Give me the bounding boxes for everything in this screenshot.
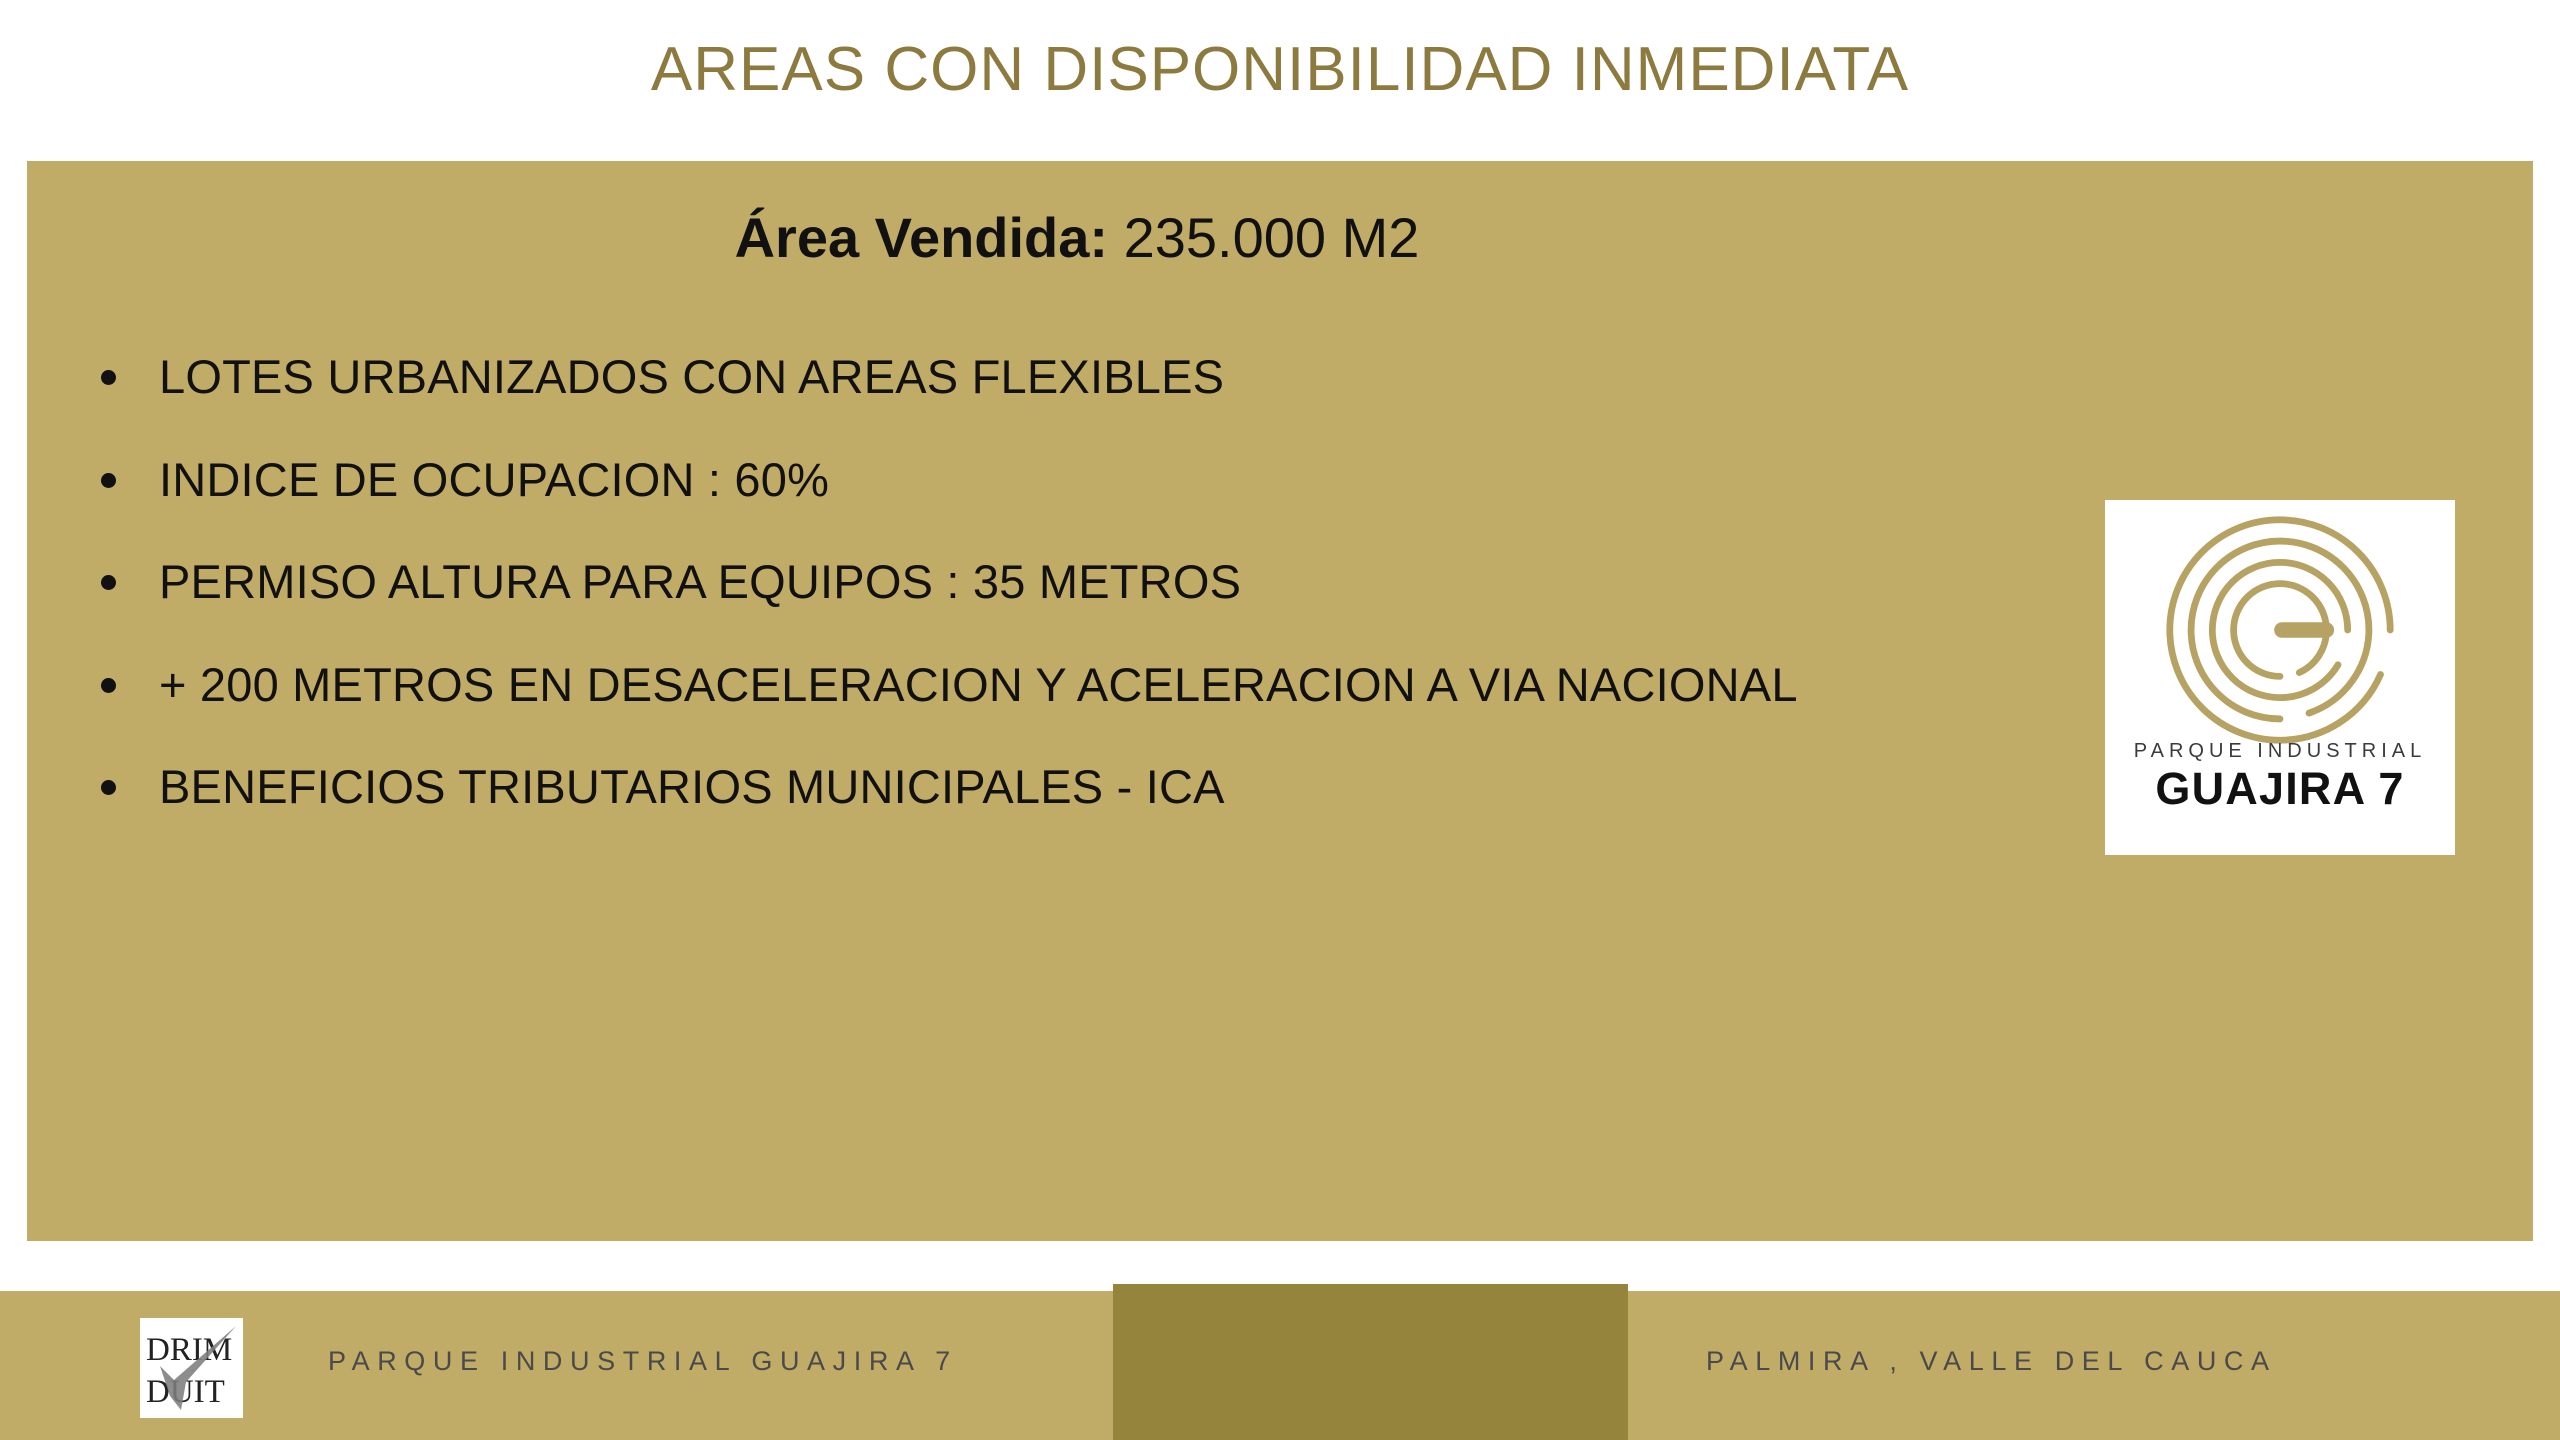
content-panel: Área Vendida: 235.000 M2 LOTES URBANIZAD… xyxy=(27,161,2533,1241)
bullet-list: LOTES URBANIZADOS CON AREAS FLEXIBLES IN… xyxy=(77,346,2037,859)
bullet-dot-icon xyxy=(101,473,116,488)
list-item-label: + 200 METROS EN DESACELERACION Y ACELERA… xyxy=(159,654,2037,717)
list-item: + 200 METROS EN DESACELERACION Y ACELERA… xyxy=(77,654,2037,717)
guajira-logo-card: PARQUE INDUSTRIAL GUAJIRA 7 xyxy=(2105,500,2455,855)
spiral-g-icon xyxy=(2164,514,2396,746)
list-item-label: BENEFICIOS TRIBUTARIOS MUNICIPALES - ICA xyxy=(159,756,2037,819)
list-item: INDICE DE OCUPACION : 60% xyxy=(77,449,2037,512)
page-title: AREAS CON DISPONIBILIDAD INMEDIATA xyxy=(0,34,2560,105)
footer-right-label: PALMIRA , VALLE DEL CAUCA xyxy=(1706,1346,2277,1377)
area-vendida-heading: Área Vendida: 235.000 M2 xyxy=(27,205,2127,270)
logo-name: GUAJIRA 7 xyxy=(2155,765,2404,812)
svg-text:DRIM: DRIM xyxy=(146,1332,232,1368)
list-item: PERMISO ALTURA PARA EQUIPOS : 35 METROS xyxy=(77,551,2037,614)
list-item-label: PERMISO ALTURA PARA EQUIPOS : 35 METROS xyxy=(159,551,2037,614)
footer-accent-block xyxy=(1113,1284,1628,1440)
bullet-dot-icon xyxy=(101,678,116,693)
area-vendida-value: 235.000 M2 xyxy=(1124,206,1420,269)
drim-duit-logo: DRIM DUIT xyxy=(140,1318,243,1418)
bullet-dot-icon xyxy=(101,575,116,590)
logo-subtitle: PARQUE INDUSTRIAL xyxy=(2134,740,2426,763)
list-item-label: LOTES URBANIZADOS CON AREAS FLEXIBLES xyxy=(159,346,2037,409)
area-vendida-label: Área Vendida: xyxy=(735,206,1108,269)
list-item-label: INDICE DE OCUPACION : 60% xyxy=(159,449,2037,512)
bullet-dot-icon xyxy=(101,780,116,795)
footer-left-label: PARQUE INDUSTRIAL GUAJIRA 7 xyxy=(328,1346,958,1377)
bullet-dot-icon xyxy=(101,370,116,385)
list-item: BENEFICIOS TRIBUTARIOS MUNICIPALES - ICA xyxy=(77,756,2037,819)
list-item: LOTES URBANIZADOS CON AREAS FLEXIBLES xyxy=(77,346,2037,409)
